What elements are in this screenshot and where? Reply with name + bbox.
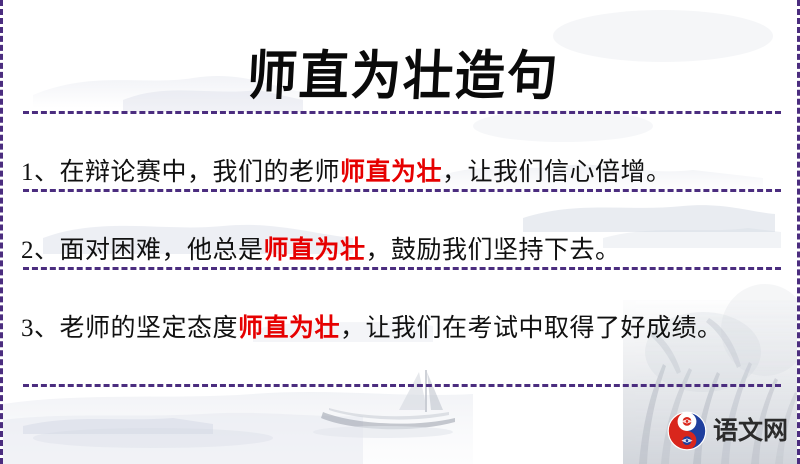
page-title: 师直为壮造句 bbox=[246, 48, 561, 104]
sentence-number: 2、 bbox=[21, 237, 60, 264]
divider-rule-top bbox=[23, 111, 781, 114]
sentence-text-before: 老师的坚定态度 bbox=[60, 315, 239, 342]
sentence-item: 3、老师的坚定态度师直为壮，让我们在考试中取得了好成绩。 bbox=[21, 308, 783, 350]
sentence-text-after: ，让我们在考试中取得了好成绩。 bbox=[340, 315, 723, 342]
sentence-text-before: 面对困难，他总是 bbox=[60, 237, 264, 264]
idiom-highlight: 师直为壮 bbox=[340, 159, 442, 186]
divider-rule-bottom bbox=[23, 384, 781, 387]
sentence-item: 1、在辩论赛中，我们的老师师直为壮，让我们信心倍增。 bbox=[21, 152, 783, 194]
sentence-text-after: ，让我们信心倍增。 bbox=[442, 159, 672, 186]
worksheet-page: 师直为壮造句 1、在辩论赛中，我们的老师师直为壮，让我们信心倍增。 2、面对困难… bbox=[0, 0, 800, 464]
worksheet-content: 师直为壮造句 1、在辩论赛中，我们的老师师直为壮，让我们信心倍增。 2、面对困难… bbox=[3, 0, 797, 464]
idiom-highlight: 师直为壮 bbox=[238, 315, 340, 342]
title-area: 师直为壮造句 bbox=[3, 16, 800, 136]
sentence-text-before: 在辩论赛中，我们的老师 bbox=[60, 159, 341, 186]
sentence-text-after: ，鼓励我们坚持下去。 bbox=[366, 237, 621, 264]
sentence-number: 3、 bbox=[21, 315, 60, 342]
sentence-item: 2、面对困难，他总是师直为壮，鼓励我们坚持下去。 bbox=[21, 230, 783, 272]
site-logo[interactable]: 语文网 bbox=[667, 411, 788, 451]
yinyang-fish-logo-icon bbox=[667, 411, 707, 451]
logo-wordmark: 语文网 bbox=[713, 419, 788, 444]
sentence-number: 1、 bbox=[21, 159, 60, 186]
idiom-highlight: 师直为壮 bbox=[264, 237, 366, 264]
